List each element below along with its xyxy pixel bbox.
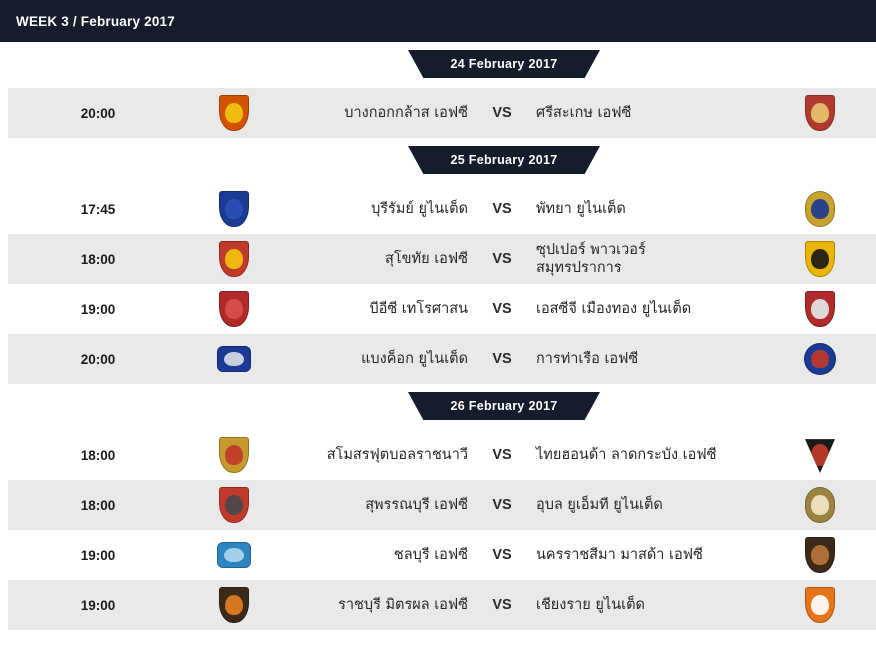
pattaya-united-crest — [803, 189, 837, 229]
away-team-name[interactable]: เชียงราย ยูไนเต็ด — [524, 596, 772, 614]
vs-label: VS — [480, 351, 524, 367]
home-team-logo[interactable] — [188, 289, 280, 329]
home-team-name[interactable]: บางกอกกล้าส เอฟซี — [280, 104, 480, 122]
home-team-name[interactable]: บีอีซี เทโรศาสน — [280, 300, 480, 318]
match-row[interactable]: 18:00สุพรรณบุรี เอฟซีVSอุบล ยูเอ็มที ยูไ… — [8, 480, 876, 530]
crest-body — [805, 587, 835, 623]
match-time: 18:00 — [8, 252, 188, 267]
away-team-logo[interactable] — [772, 485, 868, 525]
date-banner: 24 February 2017 — [408, 50, 600, 78]
date-block: 25 February 2017 — [0, 138, 876, 184]
home-team-logo[interactable] — [188, 585, 280, 625]
away-team-logo[interactable] — [772, 239, 868, 279]
ubon-umt-united-crest — [803, 485, 837, 525]
away-team-name[interactable]: อุบล ยูเอ็มที ยูไนเต็ด — [524, 496, 772, 514]
home-team-name[interactable]: ราชบุรี มิตรผล เอฟซี — [280, 596, 480, 614]
home-team-name[interactable]: สโมสรฟุตบอลราชนาวี — [280, 446, 480, 464]
fixtures-list: 24 February 201720:00บางกอกกล้าส เอฟซีVS… — [0, 42, 876, 630]
match-row[interactable]: 18:00สโมสรฟุตบอลราชนาวีVSไทยฮอนด้า ลาดกร… — [8, 430, 876, 480]
crest-body — [219, 191, 249, 227]
crest-emblem — [811, 199, 828, 219]
navy-fc-crest — [217, 435, 251, 475]
away-team-name[interactable]: พัทยา ยูไนเต็ด — [524, 200, 772, 218]
crest-emblem — [811, 299, 828, 319]
date-banner: 25 February 2017 — [408, 146, 600, 174]
vs-label: VS — [480, 105, 524, 121]
match-time: 20:00 — [8, 352, 188, 367]
away-team-name[interactable]: นครราชสีมา มาสด้า เอฟซี — [524, 546, 772, 564]
crest-body — [805, 437, 835, 473]
crest-emblem — [225, 445, 242, 465]
crest-emblem — [811, 444, 830, 466]
chonburi-crest — [217, 535, 251, 575]
home-team-logo[interactable] — [188, 435, 280, 475]
bangkok-united-crest — [217, 339, 251, 379]
home-team-name[interactable]: สุโขทัย เอฟซี — [280, 250, 480, 268]
away-team-name[interactable]: ไทยฮอนด้า ลาดกระบัง เอฟซี — [524, 446, 772, 464]
away-team-name[interactable]: เอสซีจี เมืองทอง ยูไนเต็ด — [524, 300, 772, 318]
home-team-logo[interactable] — [188, 189, 280, 229]
crest-emblem — [811, 495, 828, 515]
crest-emblem — [225, 299, 242, 319]
crest-emblem — [225, 249, 242, 269]
vs-label: VS — [480, 301, 524, 317]
crest-body — [805, 291, 835, 327]
vs-label: VS — [480, 201, 524, 217]
away-team-logo[interactable] — [772, 535, 868, 575]
crest-emblem — [811, 249, 828, 269]
home-team-logo[interactable] — [188, 93, 280, 133]
crest-body — [219, 291, 249, 327]
crest-body — [805, 537, 835, 573]
super-power-samut-prakan-crest — [803, 239, 837, 279]
ratchaburi-mitr-phol-crest — [217, 585, 251, 625]
crest-emblem — [225, 199, 242, 219]
crest-emblem — [811, 595, 828, 615]
match-row[interactable]: 18:00สุโขทัย เอฟซีVSซุปเปอร์ พาวเวอร์สมุ… — [8, 234, 876, 284]
bec-tero-sasana-crest — [217, 289, 251, 329]
home-team-logo[interactable] — [188, 485, 280, 525]
away-team-logo[interactable] — [772, 585, 868, 625]
match-time: 19:00 — [8, 548, 188, 563]
away-team-logo[interactable] — [772, 339, 868, 379]
crest-body — [805, 487, 835, 523]
page-title: WEEK 3 / February 2017 — [0, 14, 175, 29]
crest-emblem — [225, 103, 242, 123]
thai-honda-ladkrabang-crest — [803, 435, 837, 475]
crest-emblem — [224, 352, 244, 366]
scg-muangthong-united-crest — [803, 289, 837, 329]
date-block: 24 February 2017 — [0, 42, 876, 88]
vs-label: VS — [480, 497, 524, 513]
match-row[interactable]: 19:00บีอีซี เทโรศาสนVSเอสซีจี เมืองทอง ย… — [8, 284, 876, 334]
home-team-name[interactable]: สุพรรณบุรี เอฟซี — [280, 496, 480, 514]
away-team-logo[interactable] — [772, 189, 868, 229]
match-time: 18:00 — [8, 448, 188, 463]
match-row[interactable]: 20:00บางกอกกล้าส เอฟซีVSศรีสะเกษ เอฟซี — [8, 88, 876, 138]
crest-emblem — [225, 595, 242, 615]
home-team-name[interactable]: แบงค็อก ยูไนเต็ด — [280, 350, 480, 368]
match-row[interactable]: 19:00ชลบุรี เอฟซีVSนครราชสีมา มาสด้า เอฟ… — [8, 530, 876, 580]
crest-body — [219, 437, 249, 473]
crest-emblem — [224, 548, 244, 562]
page-header: WEEK 3 / February 2017 — [0, 0, 876, 42]
date-block: 26 February 2017 — [0, 384, 876, 430]
vs-label: VS — [480, 547, 524, 563]
crest-body — [804, 343, 836, 375]
vs-label: VS — [480, 597, 524, 613]
chiangrai-united-crest — [803, 585, 837, 625]
match-time: 19:00 — [8, 598, 188, 613]
crest-body — [805, 95, 835, 131]
crest-emblem — [811, 545, 828, 565]
crest-body — [219, 95, 249, 131]
away-team-logo[interactable] — [772, 289, 868, 329]
crest-emblem — [225, 495, 242, 515]
home-team-logo[interactable] — [188, 535, 280, 575]
away-team-name[interactable]: ศรีสะเกษ เอฟซี — [524, 104, 772, 122]
crest-body — [217, 346, 251, 372]
crest-body — [805, 191, 835, 227]
crest-body — [219, 587, 249, 623]
away-team-name[interactable]: การท่าเรือ เอฟซี — [524, 350, 772, 368]
bangkok-glass-crest — [217, 93, 251, 133]
buriram-united-crest — [217, 189, 251, 229]
vs-label: VS — [480, 447, 524, 463]
home-team-name[interactable]: ชลบุรี เอฟซี — [280, 546, 480, 564]
home-team-logo[interactable] — [188, 239, 280, 279]
match-row[interactable]: 17:45บุรีรัมย์ ยูไนเต็ดVSพัทยา ยูไนเต็ด — [8, 184, 876, 234]
away-team-logo[interactable] — [772, 435, 868, 475]
home-team-logo[interactable] — [188, 339, 280, 379]
crest-body — [217, 542, 251, 568]
away-team-logo[interactable] — [772, 93, 868, 133]
crest-emblem — [811, 350, 830, 368]
crest-body — [219, 487, 249, 523]
match-time: 18:00 — [8, 498, 188, 513]
match-time: 20:00 — [8, 106, 188, 121]
away-team-name[interactable]: ซุปเปอร์ พาวเวอร์สมุทรปราการ — [524, 241, 772, 277]
crest-body — [805, 241, 835, 277]
vs-label: VS — [480, 251, 524, 267]
suphanburi-crest — [217, 485, 251, 525]
sukhothai-crest — [217, 239, 251, 279]
fixtures-page: WEEK 3 / February 2017 24 February 20172… — [0, 0, 876, 656]
date-banner: 26 February 2017 — [408, 392, 600, 420]
nakhon-ratchasima-mazda-crest — [803, 535, 837, 575]
match-time: 17:45 — [8, 202, 188, 217]
match-row[interactable]: 20:00แบงค็อก ยูไนเต็ดVSการท่าเรือ เอฟซี — [8, 334, 876, 384]
crest-body — [219, 241, 249, 277]
match-row[interactable]: 19:00ราชบุรี มิตรผล เอฟซีVSเชียงราย ยูไน… — [8, 580, 876, 630]
port-fc-crest — [803, 339, 837, 379]
home-team-name[interactable]: บุรีรัมย์ ยูไนเต็ด — [280, 200, 480, 218]
match-time: 19:00 — [8, 302, 188, 317]
sisaket-crest — [803, 93, 837, 133]
crest-emblem — [811, 103, 828, 123]
